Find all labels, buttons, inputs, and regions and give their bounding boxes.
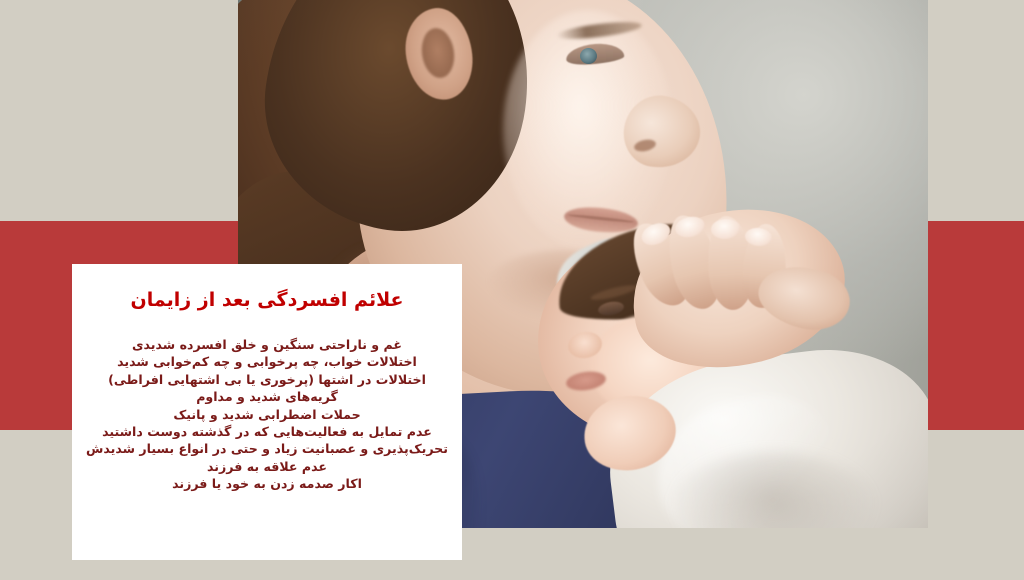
symptoms-list: غم و ناراحتی سنگین و خلق افسرده شدیدی اخ… xyxy=(86,336,448,493)
symptom-item: عدم علاقه به فرزند xyxy=(86,458,448,475)
card-title: علائم افسردگی بعد از زایمان xyxy=(86,286,448,314)
symptom-item: غم و ناراحتی سنگین و خلق افسرده شدیدی xyxy=(86,336,448,353)
slide-canvas: علائم افسردگی بعد از زایمان غم و ناراحتی… xyxy=(0,0,1024,580)
symptom-item: حملات اضطرابی شدید و پانیک xyxy=(86,406,448,423)
symptom-item: تحریک‌پذیری و عصبانیت زیاد و حتی در انوا… xyxy=(86,440,448,457)
symptom-item: عدم تمایل به فعالیت‌هایی که در گذشته دوس… xyxy=(86,423,448,440)
symptoms-card: علائم افسردگی بعد از زایمان غم و ناراحتی… xyxy=(72,264,462,560)
symptom-item: اکار صدمه زدن به خود یا فرزند xyxy=(86,475,448,492)
symptom-item: اختلالات در اشتها (پرخوری یا بی اشتهایی … xyxy=(86,371,448,388)
symptom-item: گریه‌های شدید و مداوم xyxy=(86,388,448,405)
symptom-item: اختلالات خواب، چه پرخوابی و چه کم‌خوابی … xyxy=(86,353,448,370)
mother-iris xyxy=(580,48,597,64)
